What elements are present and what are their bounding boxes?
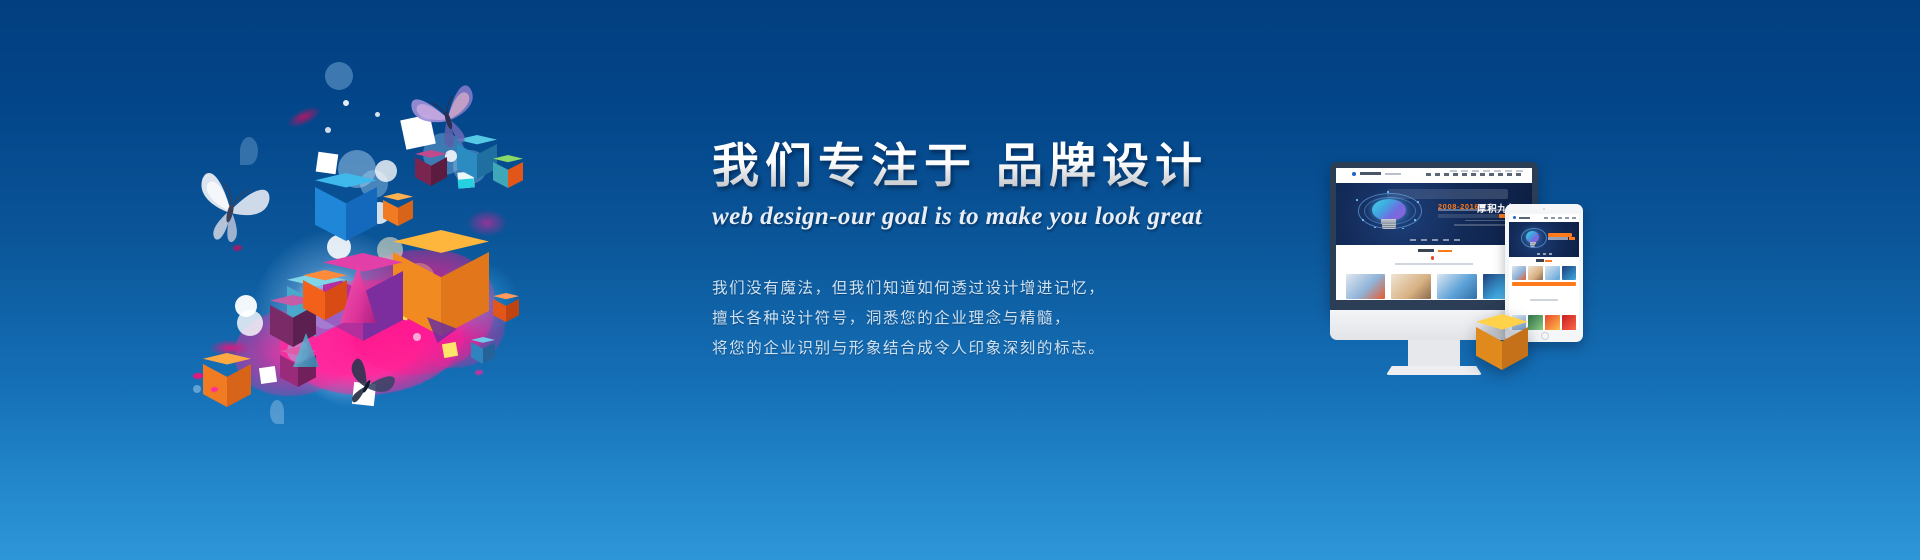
paint-droplet [233, 245, 242, 251]
cube-right-face [1502, 327, 1528, 370]
monitor-stand-neck [1408, 340, 1460, 368]
cube-blue-small [471, 337, 495, 365]
white-square [316, 152, 339, 175]
cube-green [493, 155, 523, 189]
cube-orange-tiny [383, 193, 413, 227]
network-node [1387, 191, 1389, 193]
mobile-thumbnail-item[interactable] [1545, 266, 1560, 280]
bokeh-circle [325, 62, 353, 90]
mobile-thumbnail-item[interactable] [1528, 266, 1543, 280]
mobile-hero-year-bar [1548, 233, 1572, 237]
thumbnail-item[interactable] [1346, 274, 1386, 299]
mobile-hero-banner [1509, 222, 1579, 257]
mobile-section-title [1536, 259, 1544, 262]
site-topbar-links [1450, 170, 1524, 172]
bokeh-circle [343, 100, 349, 106]
mobile-thumbnail-item[interactable] [1528, 315, 1543, 330]
mobile-thumbnail-row [1512, 266, 1576, 280]
mobile-content-section [1509, 257, 1579, 298]
cube-left-face [1476, 327, 1502, 370]
site-nav-links [1426, 173, 1524, 176]
mobile-logo-icon [1513, 216, 1516, 219]
thumbnail-item[interactable] [1391, 274, 1431, 299]
site-hero-pagination[interactable] [1410, 239, 1465, 241]
butterfly-left-icon [193, 165, 271, 245]
site-header [1336, 168, 1532, 183]
site-logo-text [1360, 172, 1382, 175]
mobile-site-header [1509, 214, 1579, 222]
hero-description: 我们没有魔法，但我们知道如何透过设计增进记忆， 擅长各种设计符号，洞悉您的企业理… [712, 274, 1272, 364]
device-mockups: 2008-2016 厚积九年 [1330, 162, 1630, 392]
network-node [1402, 228, 1404, 230]
mobile-thumbnail-item[interactable] [1512, 266, 1527, 280]
network-node [1374, 227, 1376, 229]
abstract-artwork [175, 55, 595, 455]
network-node [1417, 201, 1419, 203]
network-node [1414, 219, 1416, 221]
mobile-thumbnail-item[interactable] [1545, 315, 1560, 330]
bokeh-circle [193, 385, 201, 393]
website-preview-desktop: 2008-2016 厚积九年 [1336, 168, 1532, 300]
site-logo-icon [1352, 172, 1356, 176]
orange-cube-decoration [1476, 314, 1528, 370]
cube-orange-bottom [203, 353, 251, 409]
mobile-hero-pagination[interactable] [1537, 253, 1554, 255]
site-hero-minor-line [1454, 224, 1509, 226]
paint-drip [286, 103, 323, 130]
white-square [259, 366, 277, 384]
description-line: 将您的企业识别与形象结合成令人印象深刻的标志。 [712, 334, 1272, 364]
mobile-logo-text [1519, 217, 1530, 219]
website-preview-mobile [1509, 214, 1579, 330]
mobile-lightbulb-graphic [1519, 226, 1547, 253]
cube-blue [315, 173, 377, 245]
mobile-nav-links[interactable] [1544, 217, 1576, 219]
monitor-screen: 2008-2016 厚积九年 [1336, 168, 1532, 300]
hero-banner: 我们专注于 品牌设计 web design-our goal is to mak… [0, 0, 1920, 560]
bokeh-circle [237, 310, 263, 336]
section-divider-dot [1431, 256, 1434, 259]
thumbnail-item[interactable] [1437, 274, 1477, 299]
network-node [1362, 219, 1364, 221]
mobile-hero-cta[interactable] [1569, 237, 1575, 240]
bokeh-circle [325, 127, 331, 133]
page-subtitle: web design-our goal is to make you look … [712, 203, 1272, 231]
site-logo-subtext [1385, 173, 1401, 175]
cube-pink-small [493, 293, 519, 323]
thumbnail-row [1346, 274, 1522, 299]
bulb-base [1382, 224, 1395, 229]
site-hero-banner: 2008-2016 厚积九年 [1336, 183, 1532, 245]
page-title: 我们专注于 品牌设计 [712, 140, 1272, 193]
cube-maroon [415, 150, 447, 188]
description-line: 擅长各种设计符号，洞悉您的企业理念与精髓， [712, 304, 1272, 334]
monitor-stand-base [1386, 366, 1482, 375]
bokeh-circle [375, 112, 380, 117]
mobile-bottom-title [1530, 299, 1558, 301]
bokeh-circle [240, 137, 258, 165]
network-node [1356, 199, 1358, 201]
lightbulb-graphic [1352, 190, 1426, 241]
tablet-screen [1509, 214, 1579, 330]
tablet-home-button[interactable] [1541, 332, 1549, 340]
site-content-section [1336, 245, 1532, 300]
section-title-accent [1438, 250, 1452, 252]
mobile-section-accent [1545, 260, 1552, 262]
section-description [1395, 263, 1473, 265]
site-hero-minor-line [1465, 220, 1508, 222]
bulb-glass [1372, 199, 1406, 221]
paint-droplet [193, 373, 203, 379]
section-title [1418, 249, 1434, 252]
paint-droplet [475, 370, 483, 375]
cube-orange-small [303, 270, 347, 322]
description-line: 我们没有魔法，但我们知道如何透过设计增进记忆， [712, 274, 1272, 304]
mobile-thumbnail-item[interactable] [1562, 266, 1577, 280]
bokeh-circle [270, 400, 284, 424]
tablet-camera [1543, 208, 1545, 210]
bokeh-circle [375, 160, 397, 182]
hero-text-block: 我们专注于 品牌设计 web design-our goal is to mak… [712, 140, 1272, 364]
mobile-hero-textline [1548, 237, 1568, 240]
white-square [442, 342, 458, 358]
site-hero-textline [1438, 214, 1503, 218]
mobile-orange-cta-bar[interactable] [1512, 282, 1576, 286]
mobile-thumbnail-item[interactable] [1562, 315, 1577, 330]
butterfly-top-icon [411, 77, 481, 149]
butterfly-bottom-icon [343, 355, 395, 409]
